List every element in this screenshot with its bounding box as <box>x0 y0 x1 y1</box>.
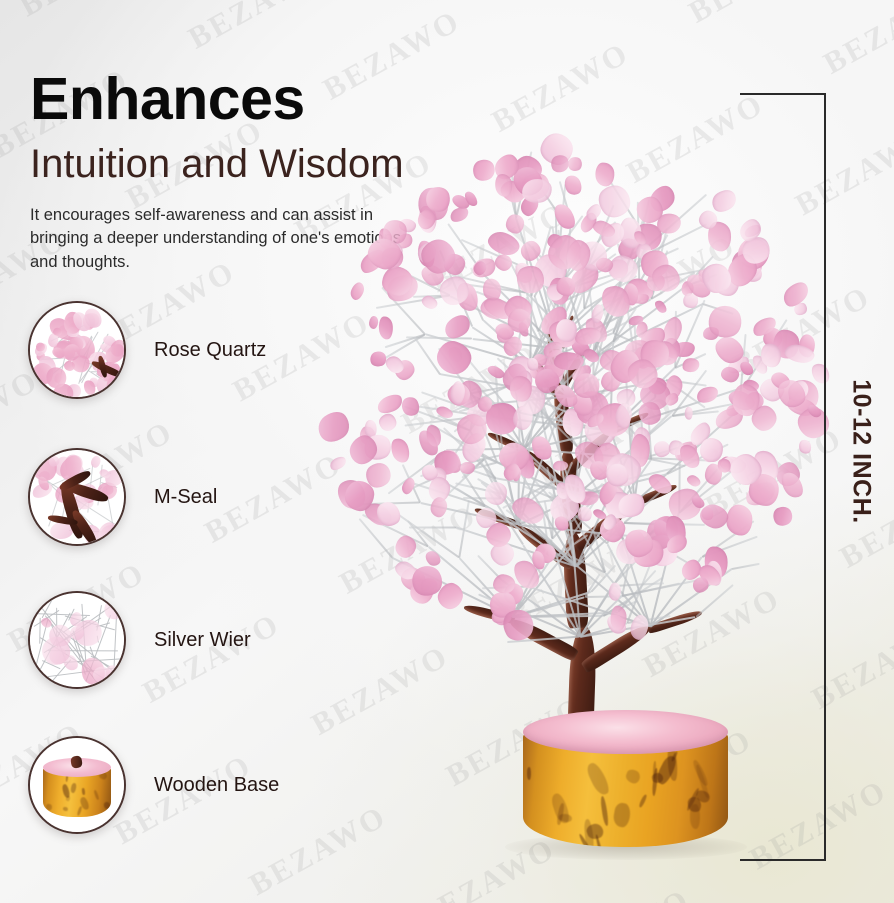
rose-quartz-chip <box>100 593 124 624</box>
bark-mark <box>94 790 100 800</box>
rose-quartz-chip <box>348 281 366 303</box>
feature-label: Silver Wier <box>154 629 251 652</box>
bark-mark <box>624 768 642 785</box>
bark-mark <box>46 804 53 811</box>
watermark-text: BEZAWO <box>683 0 833 31</box>
bark-mark <box>584 761 611 797</box>
bark-mark <box>527 767 531 780</box>
bark-mark <box>104 801 111 809</box>
bracket-top-tick <box>740 93 826 95</box>
feature-label: M-Seal <box>154 486 217 509</box>
silver-wier-thumbnail <box>28 591 126 689</box>
dimension-bracket <box>740 93 826 861</box>
bark-mark <box>63 807 68 811</box>
rose-quartz-chip <box>312 407 355 449</box>
rose-quartz-chip <box>329 455 349 473</box>
silver-wire <box>409 527 456 529</box>
watermark-text: BEZAWO <box>547 882 697 903</box>
bracket-bottom-tick <box>740 859 826 861</box>
rose-quartz-chip <box>709 186 740 216</box>
rose-quartz-chip <box>566 155 584 173</box>
rose-quartz-chip <box>506 214 526 235</box>
rose-quartz-chip <box>393 534 419 561</box>
wooden-base-photo <box>43 758 111 820</box>
watermark-text: BEZAWO <box>182 0 332 56</box>
rose-quartz-chip <box>684 406 693 419</box>
page-title: Enhances <box>30 70 305 129</box>
rose-quartz-thumbnail <box>28 301 126 399</box>
bark-mark <box>612 802 631 828</box>
dimension-label: 10-12 INCH. <box>836 0 886 903</box>
bark-mark <box>70 783 77 794</box>
rose-quartz-chip <box>562 173 585 197</box>
rose-quartz-chip <box>460 462 475 474</box>
rose-quartz-chip <box>399 394 422 418</box>
bark-mark <box>82 788 86 796</box>
rose-quartz-chip <box>378 316 393 340</box>
infographic-canvas: BEZAWOBEZAWOBEZAWOBEZAWOBEZAWOBEZAWOBEZA… <box>0 0 894 903</box>
wooden-base-thumbnail <box>28 736 126 834</box>
bark-mark <box>61 783 70 798</box>
rose-quartz-chip <box>389 436 413 465</box>
base-crystal-top <box>523 710 728 754</box>
rose-quartz-chip <box>682 357 701 373</box>
bark-mark <box>600 796 609 827</box>
dimension-value: 10-12 INCH. <box>847 379 876 523</box>
m-seal-thumbnail <box>28 448 126 546</box>
feature-label: Wooden Base <box>154 774 279 797</box>
wooden-base <box>523 710 728 860</box>
rose-quartz-chip <box>470 157 498 184</box>
watermark-text: BEZAWO <box>13 0 163 24</box>
rose-quartz-chip <box>610 605 626 630</box>
bracket-vertical-line <box>824 93 826 861</box>
bark-mark <box>550 792 572 825</box>
watermark-text: BEZAWO <box>317 3 467 108</box>
bark-mark <box>638 793 648 807</box>
feature-item-m-seal: M-Seal <box>28 447 348 547</box>
feature-item-wooden-base: Wooden Base <box>28 735 348 835</box>
feature-item-rose-quartz: Rose Quartz <box>28 300 348 400</box>
feature-label: Rose Quartz <box>154 339 266 362</box>
rose-quartz-chip <box>375 411 399 435</box>
rose-quartz-chip <box>368 316 379 330</box>
bark-mark <box>76 806 83 817</box>
feature-item-silver-wier: Silver Wier <box>28 590 348 690</box>
